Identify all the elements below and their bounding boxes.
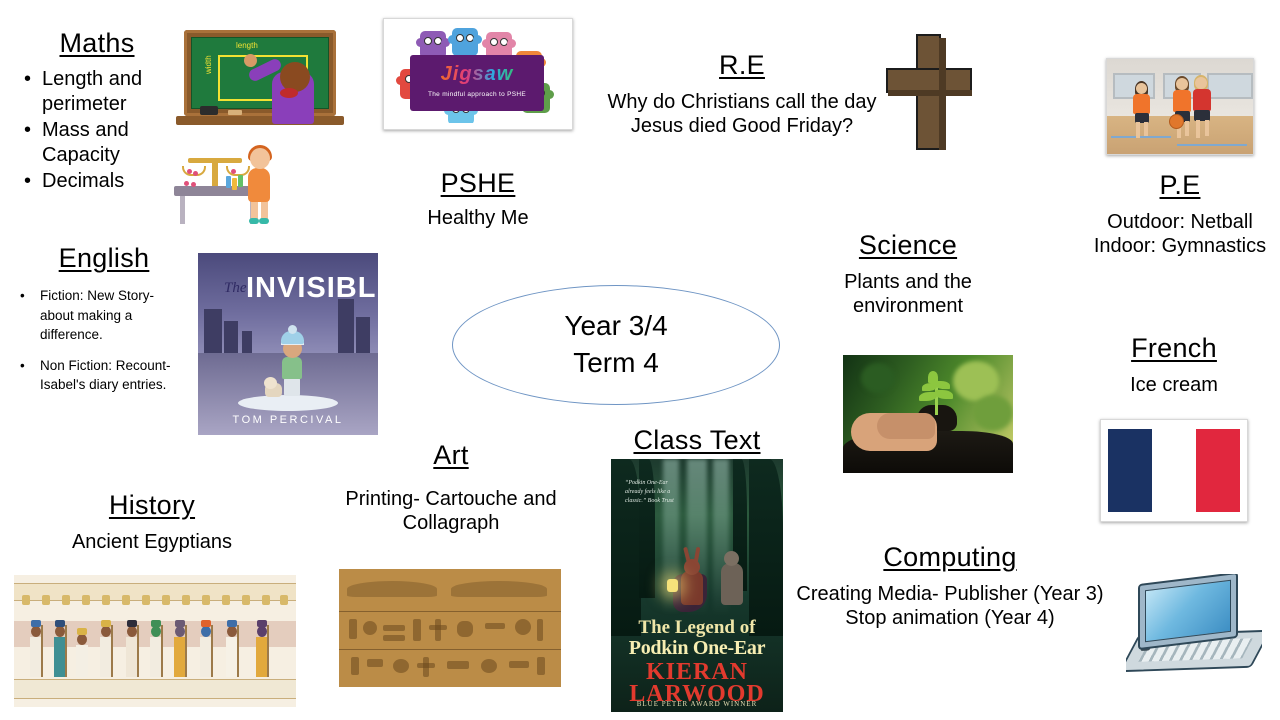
subject-block-history: History Ancient Egyptians [12,490,292,554]
book-award-label: BLUE PETER AWARD WINNER [611,700,783,708]
subject-block-art: Art Printing- Cartouche and Collagraph [336,440,566,536]
list-item: Fiction: New Story- about making a diffe… [18,286,190,345]
subject-block-re: R.E Why do Christians call the day Jesus… [598,50,886,139]
computing-title: Computing [790,542,1110,573]
art-hieroglyph-carving-photo [339,569,561,687]
subject-block-maths: Maths Length and perimeter Mass and Capa… [22,28,172,195]
flag-band-white [1152,429,1196,512]
subject-block-english: English Fiction: New Story- about making… [18,243,190,406]
subject-block-computing: Computing Creating Media- Publisher (Yea… [790,542,1110,631]
book-title-line1: The Legend of [611,617,783,639]
list-item: Decimals [22,169,172,194]
cross-icon [876,30,980,156]
pe-gym-photo [1106,58,1254,155]
chalkboard-illustration: length width [176,28,352,140]
jigsaw-pshe-logo: Jigsaw The mindful approach to PSHE [383,18,573,130]
center-oval-year-term: Year 3/4 Term 4 [452,285,780,405]
subject-block-french: French Ice cream [1094,333,1254,397]
chalkboard-width-label: width [204,55,213,74]
jigsaw-wordmark: Jigsaw [410,63,544,86]
book-author: TOM PERCIVAL [198,414,378,426]
book-the-label: The [224,280,247,297]
history-title: History [12,490,292,521]
science-body: Plants and the environment [808,270,1008,319]
book-title-line2: Podkin One-Ear [611,637,783,660]
subject-block-pe: P.E Outdoor: Netball Indoor: Gymnastics [1060,170,1280,259]
subject-block-class-text: Class Text [612,425,782,456]
class-text-book-cover-podkin: “Podkin One-Ear already feels like a cla… [611,459,783,712]
art-body: Printing- Cartouche and Collagraph [336,487,566,536]
list-item: Non Fiction: Recount- Isabel's diary ent… [18,356,190,395]
english-book-cover-the-invisible: The INVISIBLE TOM PERCIVAL [198,253,378,435]
book-review-quote: “Podkin One-Ear already feels like a cla… [625,479,687,506]
french-title: French [1094,333,1254,364]
english-bullet-list: Fiction: New Story- about making a diffe… [18,286,190,395]
subject-block-pshe: PSHE Healthy Me [390,168,566,230]
re-body: Why do Christians call the day Jesus die… [598,90,886,139]
science-seedling-photo [843,355,1013,473]
pshe-title: PSHE [390,168,566,199]
pe-title: P.E [1060,170,1280,201]
history-body: Ancient Egyptians [12,530,292,554]
french-body: Ice cream [1094,373,1254,397]
re-title: R.E [598,50,886,81]
pe-line-indoor: Indoor: Gymnastics [1060,234,1280,258]
chalkboard-length-label: length [236,41,258,50]
maths-title: Maths [22,28,172,59]
book-title: INVISIBLE [246,272,378,305]
computing-line-year3: Creating Media- Publisher (Year 3) [790,582,1110,606]
curriculum-overview-page: Maths Length and perimeter Mass and Capa… [0,0,1280,720]
center-line-year: Year 3/4 [564,308,667,345]
list-item: Mass and Capacity [22,118,172,168]
subject-block-science: Science Plants and the environment [808,230,1008,319]
flag-band-blue [1108,429,1152,512]
history-egyptian-frieze-photo [14,575,296,707]
pe-line-outdoor: Outdoor: Netball [1060,210,1280,234]
class-text-title: Class Text [612,425,782,456]
english-title: English [18,243,190,274]
center-line-term: Term 4 [573,345,659,382]
list-item: Length and perimeter [22,67,172,117]
pshe-body: Healthy Me [390,206,566,230]
science-title: Science [808,230,1008,261]
balance-scales-illustration [168,138,278,230]
laptop-icon [1126,574,1262,684]
computing-line-year4: Stop animation (Year 4) [790,606,1110,630]
maths-bullet-list: Length and perimeter Mass and Capacity D… [22,67,172,194]
jigsaw-tagline: The mindful approach to PSHE [410,91,544,98]
france-flag-icon [1100,419,1248,522]
flag-band-red [1196,429,1240,512]
art-title: Art [336,440,566,471]
